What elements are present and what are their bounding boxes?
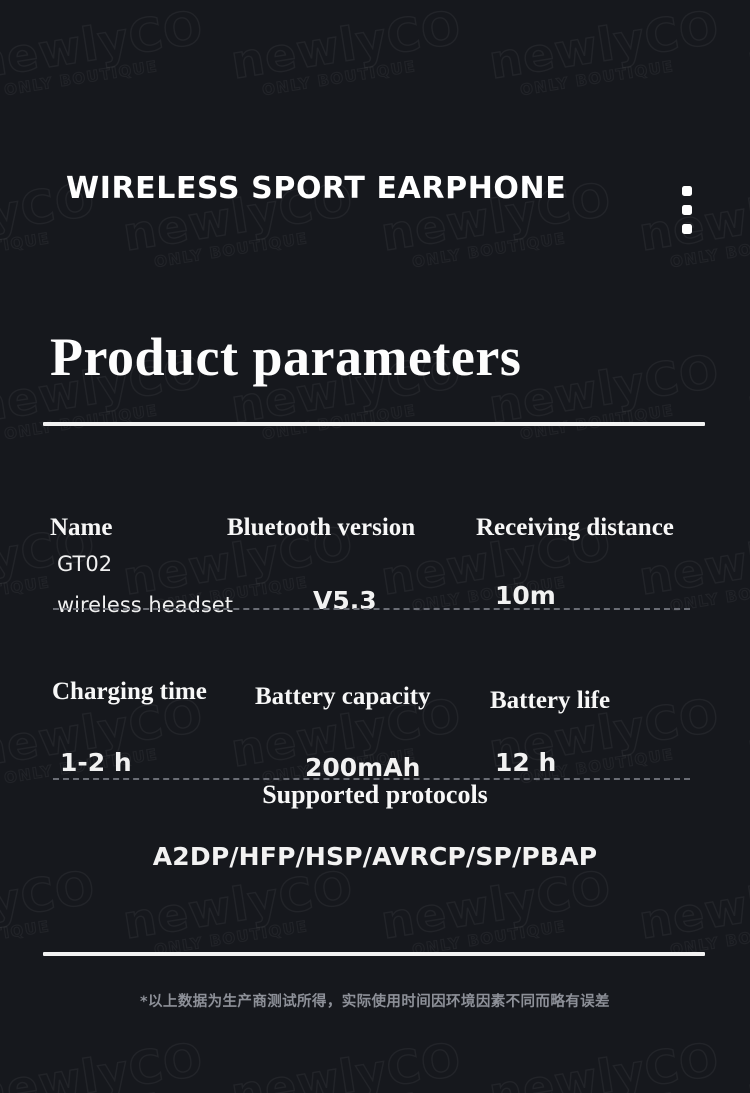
watermark-sub: ONLY BOUTIQUE bbox=[3, 51, 209, 98]
watermark-sub: ONLY BOUTIQUE bbox=[261, 1083, 467, 1093]
watermark-text: newlyCOONLY BOUTIQUE bbox=[0, 1036, 209, 1093]
divider-bottom bbox=[43, 952, 705, 956]
watermark-text: newlyCOONLY BOUTIQUE bbox=[228, 1036, 467, 1093]
watermark-main: newlyCO bbox=[636, 864, 750, 946]
watermark-sub: ONLY BOUTIQUE bbox=[411, 223, 617, 270]
watermark-main: newlyCO bbox=[378, 864, 614, 946]
watermark-main: newlyCO bbox=[0, 864, 98, 946]
value-name-line-2: wireless headset bbox=[57, 593, 233, 617]
protocols-title: Supported protocols bbox=[0, 780, 750, 810]
protocols-value: A2DP/HFP/HSP/AVRCP/SP/PBAP bbox=[0, 842, 750, 871]
watermark-text: newlyCOONLY BOUTIQUE bbox=[744, 692, 750, 791]
watermark-text: newlyCOONLY BOUTIQUE bbox=[0, 864, 101, 963]
header-receiving-distance: Receiving distance bbox=[476, 514, 674, 542]
spec-section: Product parameters Name Bluetooth versio… bbox=[0, 330, 750, 426]
kebab-dot-3 bbox=[682, 224, 692, 234]
header-bluetooth-version: Bluetooth version bbox=[227, 514, 415, 542]
value-charging-time: 1-2 h bbox=[60, 748, 132, 777]
watermark-text: newlyCOONLY BOUTIQUE bbox=[636, 864, 750, 963]
watermark-text: newlyCOONLY BOUTIQUE bbox=[744, 1036, 750, 1093]
watermark-sub: ONLY BOUTIQUE bbox=[261, 51, 467, 98]
header-battery-capacity: Battery capacity bbox=[255, 683, 431, 711]
kebab-menu-icon[interactable] bbox=[680, 186, 694, 234]
value-bluetooth-version: V5.3 bbox=[313, 586, 377, 615]
watermark-main: newlyCO bbox=[0, 4, 206, 86]
watermark-text: newlyCOONLY BOUTIQUE bbox=[486, 4, 725, 103]
watermark-sub: ONLY BOUTIQUE bbox=[153, 223, 359, 270]
watermark-main: newlyCO bbox=[120, 864, 356, 946]
watermark-text: newlyCOONLY BOUTIQUE bbox=[378, 864, 617, 963]
watermark-text: newlyCOONLY BOUTIQUE bbox=[120, 864, 359, 963]
section-heading: Product parameters bbox=[0, 330, 750, 384]
watermark-main: newlyCO bbox=[0, 1036, 206, 1093]
watermark-text: newlyCOONLY BOUTIQUE bbox=[228, 4, 467, 103]
watermark-sub: ONLY BOUTIQUE bbox=[519, 1083, 725, 1093]
watermark-text: newlyCOONLY BOUTIQUE bbox=[0, 4, 209, 103]
product-parameters-page: newlyCOONLY BOUTIQUEnewlyCOONLY BOUTIQUE… bbox=[0, 0, 750, 1093]
watermark-main: newlyCO bbox=[228, 1036, 464, 1093]
watermark-text: newlyCOONLY BOUTIQUE bbox=[744, 4, 750, 103]
watermark-main: newlyCO bbox=[744, 692, 750, 774]
watermark-main: newlyCO bbox=[486, 1036, 722, 1093]
watermark-main: newlyCO bbox=[744, 4, 750, 86]
divider-top bbox=[43, 422, 705, 426]
header-charging-time: Charging time bbox=[52, 678, 207, 706]
value-name-line-1: GT02 bbox=[57, 552, 112, 576]
kebab-dot-2 bbox=[682, 205, 692, 215]
kebab-dot-1 bbox=[682, 186, 692, 196]
watermark-sub: ONLY BOUTIQUE bbox=[0, 223, 101, 270]
header-name: Name bbox=[50, 514, 112, 542]
watermark-sub: ONLY BOUTIQUE bbox=[3, 1083, 209, 1093]
value-name: GT02 wireless headset bbox=[57, 544, 233, 626]
value-battery-life: 12 h bbox=[495, 748, 556, 777]
value-receiving-distance: 10m bbox=[495, 581, 556, 610]
header-battery-life: Battery life bbox=[490, 687, 610, 715]
watermark-main: newlyCO bbox=[486, 4, 722, 86]
watermark-main: newlyCO bbox=[744, 1036, 750, 1093]
watermark-text: newlyCOONLY BOUTIQUE bbox=[486, 1036, 725, 1093]
watermark-main: newlyCO bbox=[228, 4, 464, 86]
watermark-sub: ONLY BOUTIQUE bbox=[519, 51, 725, 98]
page-title: WIRELESS SPORT EARPHONE bbox=[66, 168, 586, 211]
footnote: *以上数据为生产商测试所得，实际使用时间因环境因素不同而略有误差 bbox=[0, 990, 750, 1011]
divider-dashed-1 bbox=[53, 608, 690, 610]
